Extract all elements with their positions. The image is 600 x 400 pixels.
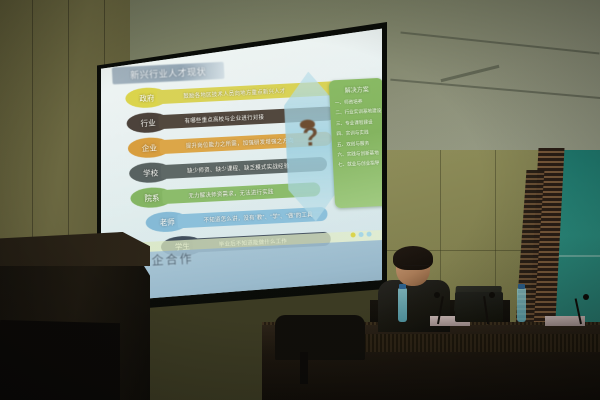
teal-panel-seam bbox=[552, 255, 600, 257]
water-bottle-cap bbox=[518, 284, 525, 289]
glasses-icon bbox=[403, 265, 429, 272]
chair-leg bbox=[300, 352, 308, 384]
microphone-head bbox=[489, 292, 495, 298]
solution-panel: 解决方案 一、师资培养 二、行业实训基地建设 三、专业课程建设 四、实训与实践 … bbox=[329, 78, 382, 209]
solution-panel-item: 三、专业课程建设 bbox=[336, 119, 381, 127]
laptop bbox=[455, 292, 503, 322]
lecture-hall-photo: 新兴行业人才现状 政府 鼓励各地区技术人员向地方重点新兴人才 行业 有哪些重点高… bbox=[0, 0, 600, 400]
solution-panel-item: 一、师资培养 bbox=[335, 98, 380, 106]
solution-panel-item: 六、实践与创新基地 bbox=[337, 150, 382, 158]
podium-base bbox=[0, 320, 120, 400]
microphone-head bbox=[583, 294, 589, 300]
water-bottle bbox=[398, 288, 407, 322]
question-mark-icon: ? bbox=[302, 123, 320, 164]
dot bbox=[350, 232, 355, 237]
dot bbox=[366, 232, 371, 237]
conference-table-front-panel bbox=[330, 334, 600, 352]
microphone-head bbox=[434, 292, 440, 298]
solution-panel-item: 五、双创与服务 bbox=[337, 139, 382, 147]
solution-panel-item: 二、行业实训基地建设 bbox=[335, 108, 380, 116]
water-bottle-cap bbox=[399, 284, 406, 289]
solution-panel-item: 四、实训与实践 bbox=[336, 129, 381, 137]
water-bottle bbox=[517, 288, 526, 322]
slide-indicator-dots bbox=[350, 232, 371, 238]
solution-panel-title: 解决方案 bbox=[334, 84, 379, 95]
chair bbox=[275, 315, 365, 360]
dot bbox=[358, 232, 363, 237]
solution-panel-item: 七、就业与创业指导 bbox=[338, 160, 382, 168]
row-bar-text: 不知道怎么讲，没有“教”、“学”、“做”的工具 bbox=[177, 207, 328, 229]
